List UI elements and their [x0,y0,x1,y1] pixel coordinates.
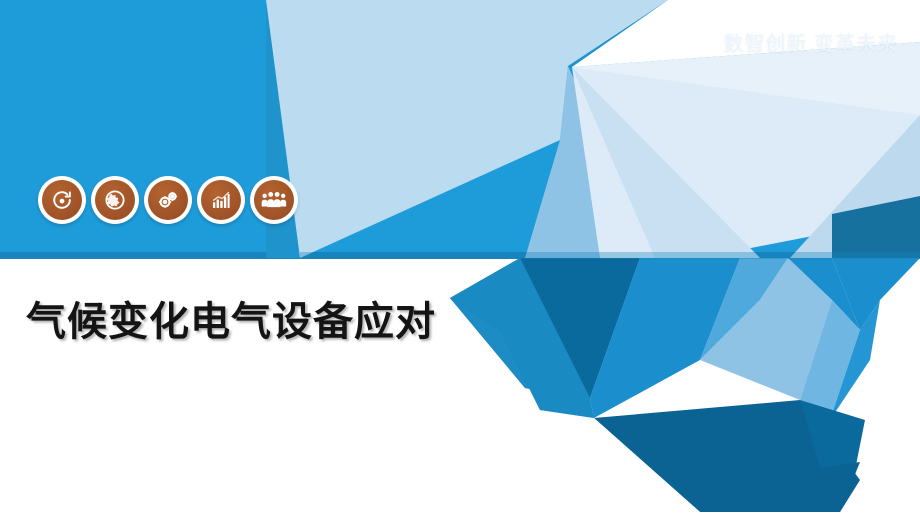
presentation-slide: 数智创新 变革未来 [0,0,920,518]
page-title: 气候变化电气设备应对 [26,289,436,347]
background-graphic [0,0,920,518]
icon-row [38,176,298,224]
bar-chart-icon [201,180,241,220]
icon-badge-gears[interactable] [144,176,192,224]
people-group-icon [254,180,294,220]
icon-badge-people[interactable] [250,176,298,224]
icon-badge-recycle[interactable] [38,176,86,224]
header-tagline: 数智创新 变革未来 [723,27,898,56]
band-seam-overlay [300,252,920,259]
gears-icon [148,180,188,220]
icon-badge-bar-chart[interactable] [197,176,245,224]
globe-icon [95,180,135,220]
icon-badge-globe[interactable] [91,176,139,224]
recycle-arrow-icon [42,180,82,220]
